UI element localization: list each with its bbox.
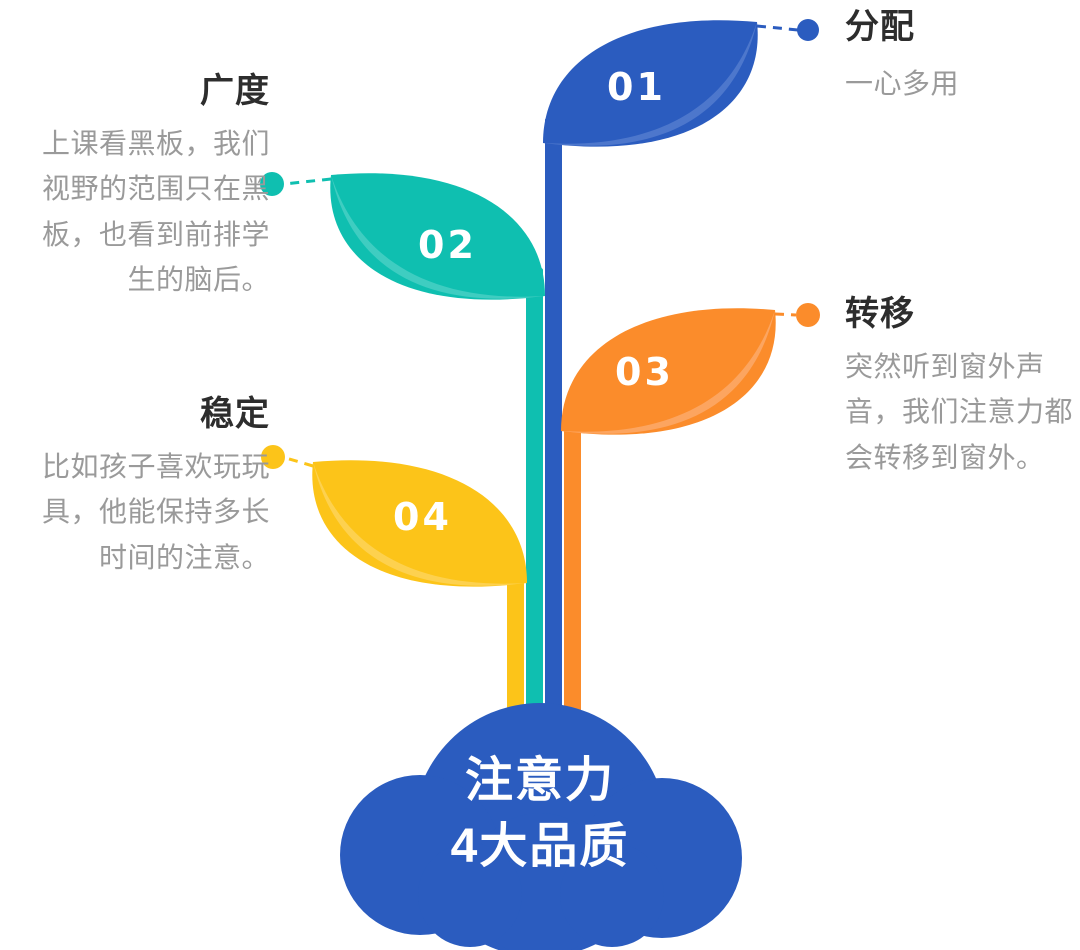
stem-teal — [526, 267, 543, 760]
label-body-01: 一心多用 — [845, 61, 1075, 106]
connector-line-teal — [284, 179, 331, 184]
label-body-04: 比如孩子喜欢玩玩具，他能保持多长时间的注意。 — [20, 444, 270, 580]
infographic-canvas: 01 02 03 04 分配 一心多用 广度 上课看黑板，我们视野的范围只在黑板… — [0, 0, 1080, 950]
connector-line-blue — [757, 26, 798, 30]
leaf-number-01: 01 — [607, 65, 666, 109]
connector-line-yellow — [286, 458, 313, 466]
label-block-04: 稳定 比如孩子喜欢玩玩具，他能保持多长时间的注意。 — [20, 395, 270, 580]
center-cloud-line-1: 注意力 — [345, 748, 735, 814]
label-heading-01: 分配 — [845, 8, 1075, 47]
connector-line-orange — [775, 314, 796, 315]
label-block-03: 转移 突然听到窗外声音，我们注意力都会转移到窗外。 — [845, 295, 1075, 480]
connector-dot-orange — [796, 303, 820, 327]
leaf-number-02: 02 — [418, 223, 477, 267]
center-cloud-text: 注意力 4大品质 — [345, 748, 735, 880]
label-heading-02: 广度 — [20, 72, 270, 111]
connector-dot-blue — [797, 19, 819, 41]
label-body-03: 突然听到窗外声音，我们注意力都会转移到窗外。 — [845, 344, 1075, 480]
label-heading-04: 稳定 — [20, 395, 270, 434]
leaf-number-04: 04 — [393, 495, 452, 539]
stem-group — [507, 117, 581, 760]
label-heading-03: 转移 — [845, 295, 1075, 334]
center-cloud-line-2: 4大品质 — [345, 814, 735, 880]
leaf-number-03: 03 — [615, 350, 674, 394]
label-body-02: 上课看黑板，我们视野的范围只在黑板，也看到前排学生的脑后。 — [20, 121, 270, 302]
label-block-02: 广度 上课看黑板，我们视野的范围只在黑板，也看到前排学生的脑后。 — [20, 72, 270, 303]
stem-blue — [545, 117, 562, 760]
label-block-01: 分配 一心多用 — [845, 8, 1075, 106]
